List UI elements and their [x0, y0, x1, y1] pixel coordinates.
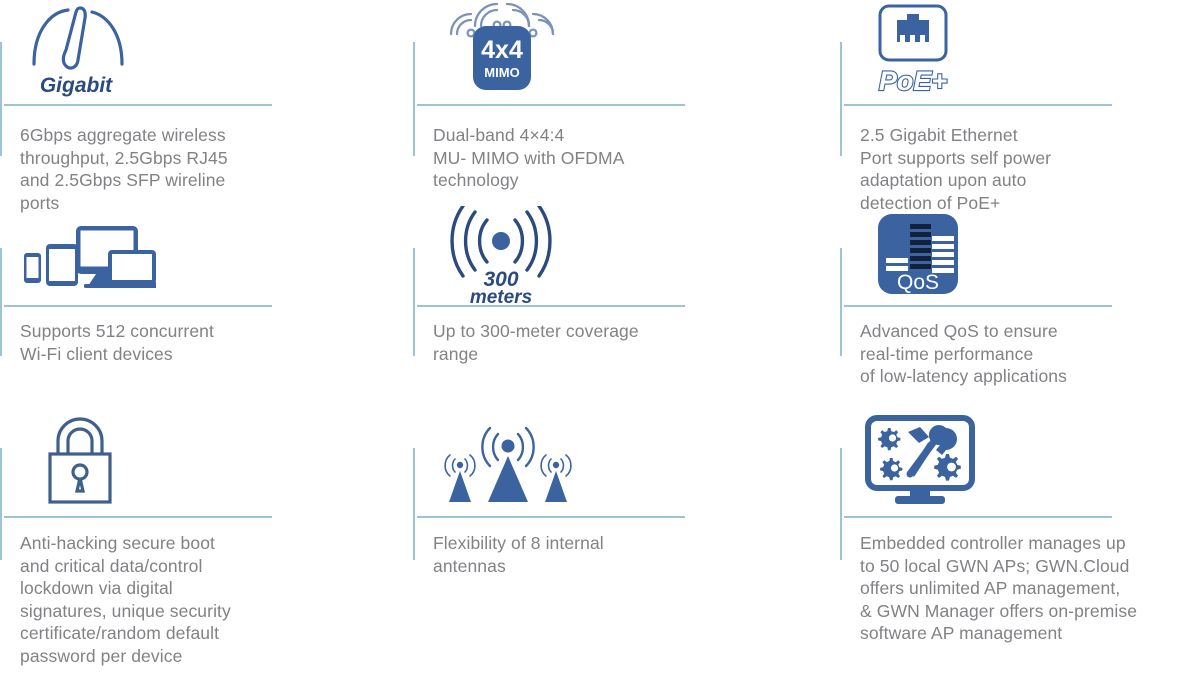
feature-card-antennas: Flexibility of 8 internal antennas [413, 406, 840, 676]
card-horizontal-rule [417, 104, 685, 106]
feature-card-security: Anti-hacking secure boot and critical da… [0, 406, 413, 676]
feature-description: 6Gbps aggregate wireless throughput, 2.5… [20, 124, 228, 214]
broadcast-towers-icon [433, 422, 583, 518]
multi-device-icon [16, 220, 156, 316]
feature-card-poe: PoE+ 2.5 Gigabit Ethernet Port supports … [840, 0, 1200, 206]
feature-card-mimo: 4x4 MIMO Dual-band 4×4:4 MU- MIMO with O… [413, 0, 840, 206]
monitor-tools-icon [862, 414, 982, 510]
feature-description: Up to 300-meter coverage range [433, 320, 639, 365]
feature-description: Anti-hacking secure boot and critical da… [20, 532, 231, 667]
card-vertical-rule [840, 448, 842, 560]
padlock-icon [30, 414, 130, 510]
feature-description: Advanced QoS to ensure real-time perform… [860, 320, 1067, 388]
card-horizontal-rule [844, 516, 1112, 518]
card-vertical-rule [413, 42, 415, 156]
signal-range-icon: 300 meters [437, 206, 567, 302]
feature-card-management: Embedded controller manages up to 50 loc… [840, 406, 1200, 676]
feature-card-clients: Supports 512 concurrent Wi-Fi client dev… [0, 206, 413, 406]
feature-description: Embedded controller manages up to 50 loc… [860, 532, 1137, 645]
feature-description: Flexibility of 8 internal antennas [433, 532, 604, 577]
poe-wordmark: PoE+ [879, 66, 948, 96]
feature-description: Dual-band 4×4:4 MU- MIMO with OFDMA tech… [433, 124, 624, 192]
feature-card-coverage: 300 meters Up to 300-meter coverage rang… [413, 206, 840, 406]
card-vertical-rule [0, 248, 2, 356]
card-horizontal-rule [4, 104, 272, 106]
card-horizontal-rule [844, 104, 1112, 106]
feature-card-qos: QoS Advanced QoS to ensure real-time per… [840, 206, 1200, 406]
gigabit-logo-icon: Gigabit [18, 0, 136, 104]
poe-plus-rj45-icon: PoE+ [864, 0, 984, 104]
feature-card-gigabit: Gigabit 6Gbps aggregate wireless through… [0, 0, 413, 206]
card-vertical-rule [413, 448, 415, 560]
feature-description: Supports 512 concurrent Wi-Fi client dev… [20, 320, 214, 365]
card-vertical-rule [840, 42, 842, 156]
feature-description: 2.5 Gigabit Ethernet Port supports self … [860, 124, 1051, 214]
coverage-unit-label: meters [470, 287, 532, 306]
mimo-sublabel: MIMO [484, 65, 519, 80]
card-vertical-rule [0, 448, 2, 560]
qos-equalizer-icon: QoS [864, 212, 974, 308]
mimo-count-label: 4x4 [481, 36, 523, 64]
card-vertical-rule [840, 248, 842, 356]
card-vertical-rule [0, 42, 2, 156]
gigabit-wordmark: Gigabit [40, 74, 113, 97]
card-vertical-rule [413, 248, 415, 356]
four-by-four-mimo-icon: 4x4 MIMO [437, 0, 567, 104]
feature-grid: Gigabit 6Gbps aggregate wireless through… [0, 0, 1200, 676]
qos-label: QoS [897, 271, 939, 294]
card-horizontal-rule [4, 516, 272, 518]
